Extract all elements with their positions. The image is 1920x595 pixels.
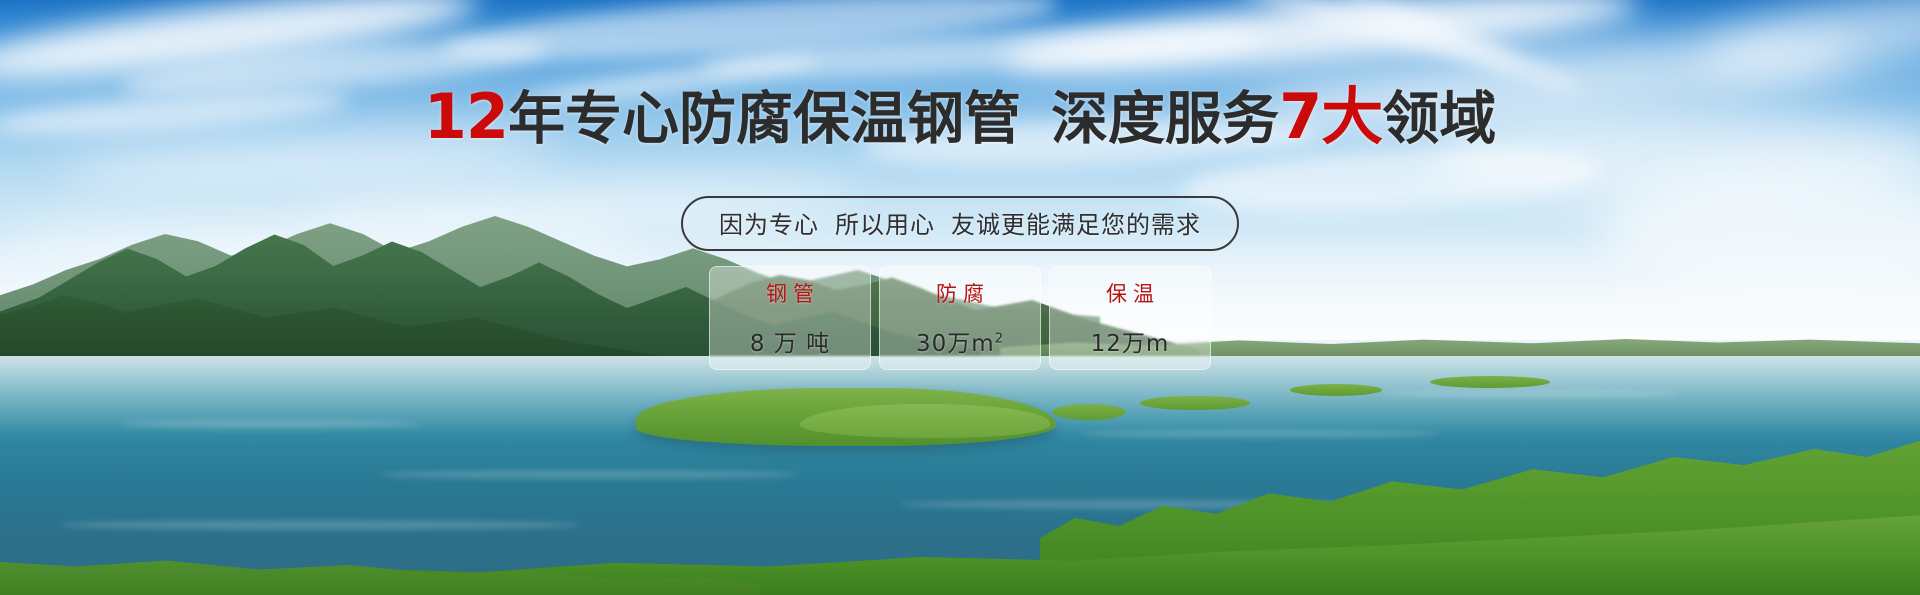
banner-subtitle-wrap: 因为专心所以用心友诚更能满足您的需求 (0, 196, 1920, 251)
stat-value: 12万m (1091, 324, 1170, 358)
stat-label: 防腐 (930, 278, 990, 308)
stat-value-text: 12万m (1091, 331, 1170, 357)
subtitle-segment-1: 因为专心 (719, 211, 819, 239)
headline-secondary-text: 深度服务 (1051, 86, 1279, 152)
banner-subtitle-pill: 因为专心所以用心友诚更能满足您的需求 (681, 196, 1239, 251)
headline-tail-text: 领域 (1382, 86, 1496, 152)
subtitle-segment-2: 所以用心 (835, 211, 935, 239)
subtitle-segment-3: 友诚更能满足您的需求 (951, 211, 1201, 239)
stat-card-insulation: 保温 12万m (1049, 266, 1211, 370)
stat-value-text: 8 万 吨 (750, 331, 830, 357)
banner-headline: 12年专心防腐保温钢管深度服务7大领域 (0, 84, 1920, 150)
hero-banner: 12年专心防腐保温钢管深度服务7大领域 因为专心所以用心友诚更能满足您的需求 钢… (0, 0, 1920, 595)
stat-value: 8 万 吨 (750, 324, 830, 358)
stat-value-superscript: 2 (995, 331, 1004, 346)
headline-fields-number: 7大 (1279, 80, 1382, 153)
stat-card-steel-pipe: 钢管 8 万 吨 (709, 266, 871, 370)
stat-card-anticorrosion: 防腐 30万m2 (879, 266, 1041, 370)
stat-value-text: 30万m (916, 331, 995, 357)
stat-label: 钢管 (760, 278, 820, 308)
headline-primary-text: 年专心防腐保温钢管 (508, 86, 1021, 152)
stat-value: 30万m2 (916, 324, 1004, 358)
banner-content: 12年专心防腐保温钢管深度服务7大领域 因为专心所以用心友诚更能满足您的需求 钢… (0, 0, 1920, 595)
stats-card-group: 钢管 8 万 吨 防腐 30万m2 保温 12万m (0, 266, 1920, 370)
stat-label: 保温 (1100, 278, 1160, 308)
headline-years-number: 12 (424, 80, 508, 153)
